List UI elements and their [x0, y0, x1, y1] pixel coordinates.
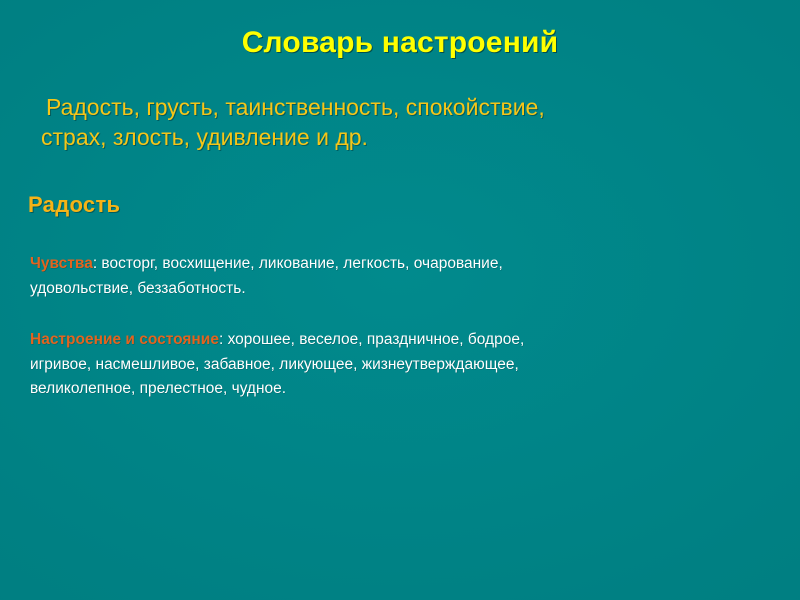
feelings-line-1: Чувства: восторг, восхищение, ликование,…: [30, 252, 730, 277]
subtitle-line-1: Радость, грусть, таинственность, спокойс…: [46, 92, 756, 122]
presentation-slide: Словарь настроений Радость, грусть, таин…: [0, 0, 800, 600]
subtitle-container: Радость, грусть, таинственность, спокойс…: [46, 92, 756, 152]
mood-text-1: : хорошее, веселое, праздничное, бодрое,: [219, 331, 524, 348]
feelings-label: Чувства: [30, 255, 93, 272]
subtitle-line-2: страх, злость, удивление и др.: [41, 122, 756, 152]
mood-line-3: великолепное, прелестное, чудное.: [30, 377, 730, 402]
mood-line-1: Настроение и состояние: хорошее, веселое…: [30, 328, 730, 353]
title-container: Словарь настроений: [0, 26, 800, 61]
section-heading-joy: Радость: [28, 192, 120, 218]
mood-line-2: игривое, насмешливое, забавное, ликующее…: [30, 353, 730, 378]
page-title: Словарь настроений: [242, 26, 559, 61]
paragraph-feelings: Чувства: восторг, восхищение, ликование,…: [30, 252, 730, 301]
feelings-text-1: : восторг, восхищение, ликование, легкос…: [93, 255, 503, 272]
paragraph-mood: Настроение и состояние: хорошее, веселое…: [30, 328, 730, 402]
mood-label: Настроение и состояние: [30, 331, 219, 348]
feelings-line-2: удовольствие, беззаботность.: [30, 277, 730, 302]
